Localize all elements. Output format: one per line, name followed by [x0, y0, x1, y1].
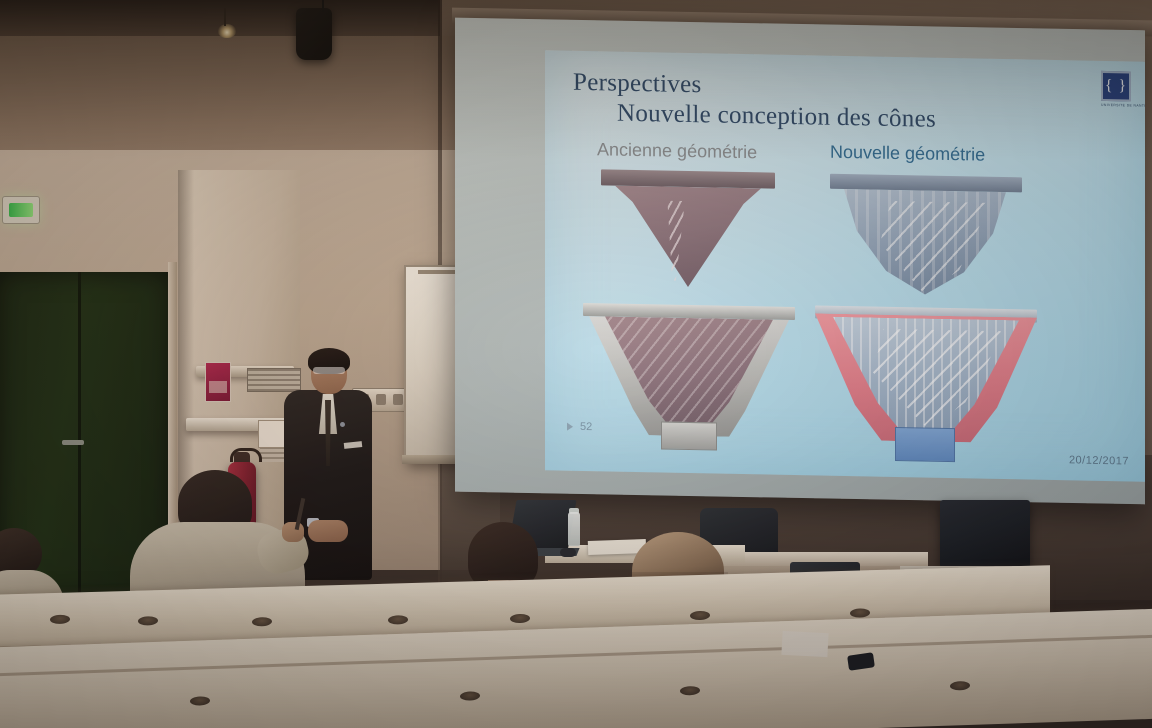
new-section-outlet: [895, 427, 955, 462]
door-handle[interactable]: [62, 440, 84, 445]
old-section-outlet: [661, 421, 717, 450]
presenter-hands: [308, 520, 348, 542]
label-new-geometry: Nouvelle géométrie: [830, 142, 985, 166]
figure-old-geometry-section: [583, 303, 795, 457]
slide-title-line2: Nouvelle conception des cônes: [617, 100, 936, 134]
presentation-slide: Perspectives Nouvelle conception des côn…: [545, 50, 1145, 482]
slide-date: 20/12/2017: [1069, 454, 1129, 467]
old-cone-body: [615, 186, 761, 289]
glasses-icon: [313, 367, 345, 374]
figure-new-geometry-section: [815, 305, 1037, 465]
figure-new-geometry-exterior: [830, 174, 1025, 300]
old-cone-flange: [601, 169, 775, 188]
wall-poster: [205, 362, 231, 402]
paper-sheet: [781, 631, 828, 657]
university-logo: { } UNIVERSITÉ DE NANTES: [1101, 71, 1131, 106]
lecture-hall-photo: Perspectives Nouvelle conception des côn…: [0, 0, 1152, 728]
door-center-gap: [78, 272, 81, 602]
speaker-cable: [322, 0, 324, 12]
audience-hand: [282, 522, 304, 542]
lectern-monitor: [940, 500, 1030, 568]
spotlight-icon: [218, 24, 236, 38]
figure-old-geometry-exterior: [595, 169, 780, 293]
logo-mark: { }: [1101, 71, 1131, 102]
slide-number-value: 52: [580, 421, 592, 433]
logo-caption: UNIVERSITÉ DE NANTES: [1101, 103, 1131, 108]
bullet-triangle-icon: [567, 423, 573, 431]
label-old-geometry: Ancienne géométrie: [597, 139, 757, 163]
slide-title-line1: Perspectives: [573, 69, 702, 99]
exit-sign-glow: [9, 203, 33, 217]
audience-member-front-left: [130, 470, 305, 595]
presenter-lapel-pin: [340, 422, 345, 427]
spotlight-arm: [224, 8, 226, 26]
emergency-exit-sign: [2, 196, 40, 224]
ceiling-speaker-icon: [296, 8, 332, 60]
slide-number: 52: [567, 421, 592, 433]
